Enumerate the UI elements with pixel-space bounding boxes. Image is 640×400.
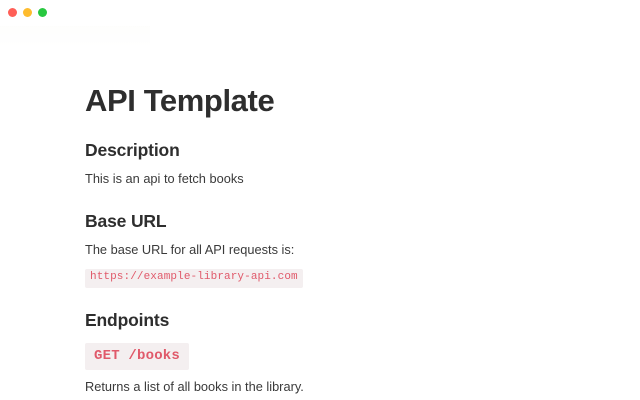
endpoint-description-text: Returns a list of all books in the libra… <box>85 378 640 397</box>
window-titlebar <box>0 0 640 26</box>
page-title: API Template <box>85 84 640 118</box>
base-url-body-text: The base URL for all API requests is: <box>85 241 640 260</box>
section-heading-base-url: Base URL <box>85 211 640 232</box>
close-window-button[interactable] <box>8 8 17 17</box>
app-window: API Template Description This is an api … <box>0 0 640 400</box>
traffic-light-group <box>8 8 47 17</box>
minimize-window-button[interactable] <box>23 8 32 17</box>
document-content: API Template Description This is an api … <box>0 48 640 400</box>
section-endpoints: Endpoints GET /books Returns a list of a… <box>85 310 640 397</box>
section-heading-description: Description <box>85 140 640 161</box>
titlebar-underlay <box>0 26 150 48</box>
endpoint-code-block-get-books[interactable]: GET /books <box>85 343 189 370</box>
description-body-text: This is an api to fetch books <box>85 170 640 189</box>
section-description: Description This is an api to fetch book… <box>85 140 640 189</box>
section-heading-endpoints: Endpoints <box>85 310 640 331</box>
section-base-url: Base URL The base URL for all API reques… <box>85 211 640 288</box>
base-url-code-chip[interactable]: https://example-library-api.com <box>85 269 303 288</box>
maximize-window-button[interactable] <box>38 8 47 17</box>
